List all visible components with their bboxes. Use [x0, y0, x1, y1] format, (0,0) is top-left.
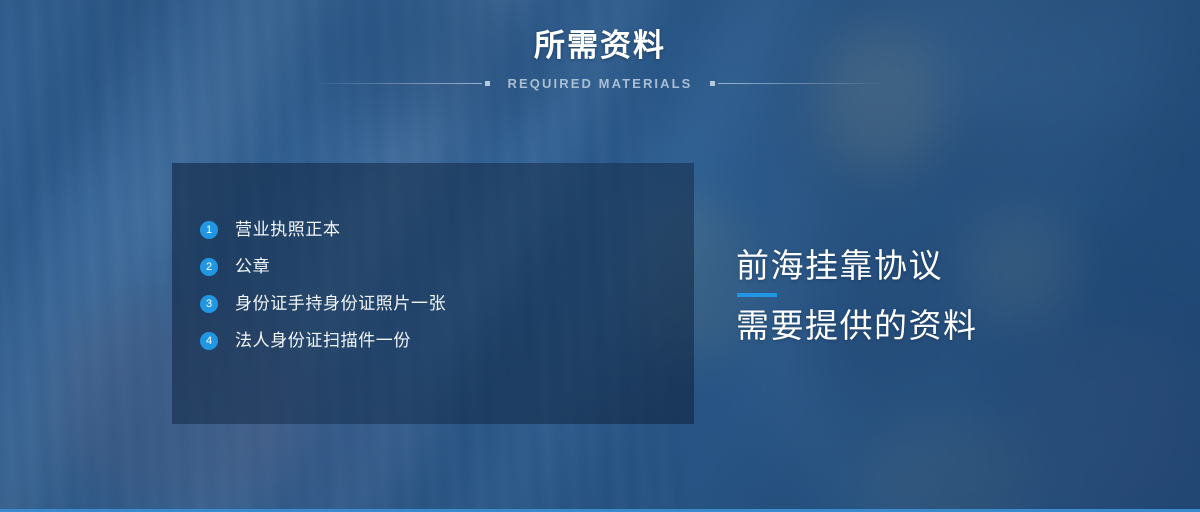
list-number-badge: 4 — [200, 332, 218, 350]
list-item: 3 身份证手持身份证照片一张 — [200, 287, 446, 321]
list-number-badge: 1 — [200, 221, 218, 239]
required-materials-banner: 所需资料 REQUIRED MATERIALS 1 营业执照正本 2 — [0, 0, 1200, 512]
list-number-badge: 2 — [200, 258, 218, 276]
list-item: 4 法人身份证扫描件一份 — [200, 324, 446, 358]
materials-list: 1 营业执照正本 2 公章 3 身份证手持身份证照片一张 4 法人身份证扫描件一… — [200, 213, 446, 361]
headline-line-2: 需要提供的资料 — [736, 303, 1156, 349]
materials-panel: 1 营业执照正本 2 公章 3 身份证手持身份证照片一张 4 法人身份证扫描件一… — [172, 163, 694, 424]
list-item: 1 营业执照正本 — [200, 213, 446, 247]
headline-accent-rule — [737, 293, 777, 297]
headline-block: 前海挂靠协议 需要提供的资料 — [736, 243, 1156, 349]
headline-line-1: 前海挂靠协议 — [736, 243, 1156, 289]
list-item: 2 公章 — [200, 250, 446, 284]
list-item-label: 公章 — [235, 255, 270, 279]
list-item-label: 法人身份证扫描件一份 — [235, 329, 411, 353]
list-item-label: 身份证手持身份证照片一张 — [235, 292, 446, 316]
list-item-label: 营业执照正本 — [235, 218, 341, 242]
banner-content: 1 营业执照正本 2 公章 3 身份证手持身份证照片一张 4 法人身份证扫描件一… — [0, 0, 1200, 512]
list-number-badge: 3 — [200, 295, 218, 313]
